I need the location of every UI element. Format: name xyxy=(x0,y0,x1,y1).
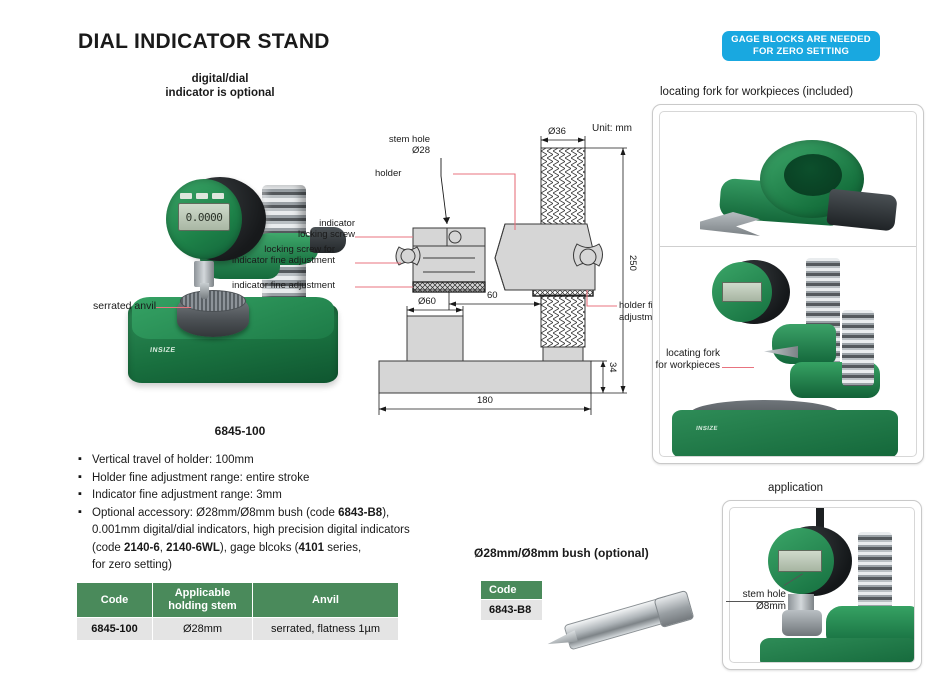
feature-text-3: Indicator fine adjustment range: 3mm xyxy=(92,489,282,501)
bush-photo xyxy=(545,582,705,672)
locating-fork-callout-line2: for workpieces xyxy=(650,360,720,372)
stem-hole-underline xyxy=(726,601,784,602)
dim-60: 60 xyxy=(487,290,498,301)
feature-4-code-4101: 4101 xyxy=(298,542,324,554)
model-code-caption: 6845-100 xyxy=(150,424,330,438)
feature-4-code-2140-6wl: 2140-6WL xyxy=(166,542,220,554)
locating-fork-callout: locating fork for workpieces xyxy=(650,348,720,372)
anvil-serrated-face xyxy=(180,290,246,312)
feature-4-part-1: Optional accessory: Ø28mm/Ø8mm bush (cod… xyxy=(92,507,338,519)
mini-holder-arm xyxy=(772,324,836,364)
label-locking-screw-fine-line2: indicator fine adjustment xyxy=(225,255,335,266)
indicator-lcd: 0.0000 xyxy=(178,203,230,231)
bush-section-title: Ø28mm/Ø8mm bush (optional) xyxy=(474,546,649,560)
feature-list: Vertical travel of holder: 100mm Holder … xyxy=(78,452,478,575)
bush-header-row: Code xyxy=(481,581,543,600)
feature-4-line-4: for zero setting) xyxy=(92,557,478,575)
cell-code: 6845-100 xyxy=(77,618,153,641)
cell-bush-code: 6843-B8 xyxy=(481,600,543,621)
feature-4-line3-e: series, xyxy=(324,542,361,554)
th-bush-code: Code xyxy=(481,581,543,600)
app-post xyxy=(858,532,892,610)
feature-4-line3-a: (code xyxy=(92,542,124,554)
th-holding-stem-line2: holding stem xyxy=(161,600,244,613)
application-panel-title: application xyxy=(768,482,823,494)
dim-dia36: Ø36 xyxy=(548,126,566,137)
feature-item-1: Vertical travel of holder: 100mm xyxy=(78,452,478,470)
indicator-contact-tip xyxy=(200,283,209,299)
dim-180: 180 xyxy=(477,395,493,406)
th-holding-stem-line1: Applicable xyxy=(161,587,244,600)
application-photo xyxy=(730,508,915,663)
feature-4-code-bush: 6843-B8 xyxy=(338,507,382,519)
badge-line-1: GAGE BLOCKS ARE NEEDED xyxy=(731,34,871,46)
fork-panel: INSIZE xyxy=(652,104,924,464)
table-header-row: Code Applicable holding stem Anvil xyxy=(77,583,399,618)
label-indicator-fine-adjustment: indicator fine adjustment xyxy=(225,280,335,291)
application-panel-inner xyxy=(729,507,915,663)
catalog-page: DIAL INDICATOR STAND GAGE BLOCKS ARE NEE… xyxy=(0,0,930,700)
indicator-button-2 xyxy=(196,193,208,199)
feature-item-4: Optional accessory: Ø28mm/Ø8mm bush (cod… xyxy=(78,505,478,575)
table-row[interactable]: 6845-100 Ø28mm serrated, flatness 1µm xyxy=(77,618,399,641)
stem-hole-callout-line1: stem hole xyxy=(728,589,786,601)
mini-base xyxy=(672,410,898,457)
cell-holding-stem: Ø28mm xyxy=(153,618,253,641)
dim-250: 250 xyxy=(627,255,638,271)
brand-logo: INSIZE xyxy=(150,347,177,354)
specification-table: Code Applicable holding stem Anvil 6845-… xyxy=(76,582,399,641)
feature-text-2: Holder fine adjustment range: entire str… xyxy=(92,472,309,484)
app-bush xyxy=(782,610,822,636)
feature-4-line3-d: ), gage blcoks ( xyxy=(220,542,299,554)
application-panel xyxy=(722,500,922,670)
page-title: DIAL INDICATOR STAND xyxy=(78,30,330,54)
fork-panel-title: locating fork for workpieces (included) xyxy=(660,86,853,98)
badge-line-2: FOR ZERO SETTING xyxy=(753,46,849,58)
label-indicator-locking-screw-line2: locking screw xyxy=(259,229,355,240)
label-holder: holder xyxy=(375,168,401,179)
th-code: Code xyxy=(77,583,153,618)
locating-fork-photo xyxy=(700,130,890,250)
bush-table: Code 6843-B8 xyxy=(480,580,543,621)
app-base xyxy=(760,638,915,663)
bush-cap xyxy=(654,590,695,628)
th-holding-stem: Applicable holding stem xyxy=(153,583,253,618)
feature-4-line-2: 0.001mm digital/dial indicators, high pr… xyxy=(92,522,478,540)
technical-drawing: holder stem hole Ø28 indicator locking s… xyxy=(355,130,645,420)
indicator-button-3 xyxy=(212,193,224,199)
mini-brand-logo: INSIZE xyxy=(696,426,719,432)
mini-indicator-lcd xyxy=(722,282,762,302)
th-anvil: Anvil xyxy=(253,583,399,618)
status-badge: GAGE BLOCKS ARE NEEDED FOR ZERO SETTING xyxy=(722,31,880,61)
label-locking-screw-fine-line1: locking screw for xyxy=(225,244,335,255)
stem-hole-callout-line2: Ø8mm xyxy=(728,601,786,613)
label-indicator-locking-screw-line1: indicator xyxy=(259,218,355,229)
cell-anvil: serrated, flatness 1µm xyxy=(253,618,399,641)
bush-table-row[interactable]: 6843-B8 xyxy=(481,600,543,621)
feature-item-2: Holder fine adjustment range: entire str… xyxy=(78,470,478,488)
fork-panel-inner: INSIZE xyxy=(659,111,917,457)
app-indicator-lcd xyxy=(778,550,822,572)
feature-4-line-3: (code 2140-6, 2140-6WL), gage blcoks (41… xyxy=(92,540,478,558)
dim-dia60: Ø60 xyxy=(418,296,436,307)
indicator-button-1 xyxy=(180,193,192,199)
feature-text-1: Vertical travel of holder: 100mm xyxy=(92,454,254,466)
feature-4-code-2140-6: 2140-6 xyxy=(124,542,160,554)
locating-fork-callout-line1: locating fork xyxy=(650,348,720,360)
label-stem-hole: stem hole xyxy=(310,134,430,145)
optional-note-line-1: digital/dial xyxy=(120,72,320,86)
label-stem-hole-dia: Ø28 xyxy=(310,145,430,156)
mini-post-lower xyxy=(842,310,874,386)
feature-4-part-2: ), xyxy=(382,507,389,519)
feature-item-3: Indicator fine adjustment range: 3mm xyxy=(78,487,478,505)
dim-34: 34 xyxy=(607,362,618,373)
fork-clamp xyxy=(826,189,897,232)
serrated-anvil-label: serrated anvil xyxy=(93,300,156,312)
fork-leader-line xyxy=(722,367,754,368)
